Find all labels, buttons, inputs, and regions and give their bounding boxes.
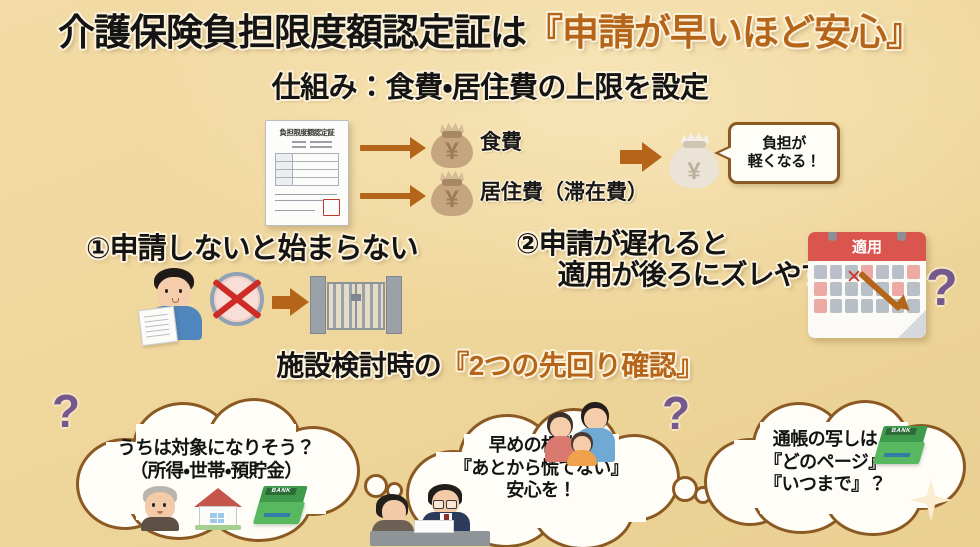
question-mark-icon-right: ?: [662, 390, 690, 436]
elderly-person-icon: [140, 486, 180, 530]
closed-gate-icon: [310, 276, 402, 334]
calendar-icon: 適用 ✕: [808, 232, 926, 338]
calendar-ring-icon: [897, 232, 906, 241]
certificate-heading: 負担限度額認定証: [266, 128, 348, 138]
cloud-1-line-2: （所得・世帯・預貯金）: [130, 460, 302, 481]
question-mark-icon: ?: [926, 262, 958, 314]
label-housing-cost: 居住費（滞在費）: [480, 181, 648, 205]
point-1-heading: ①申請しないと始まらない: [86, 233, 418, 265]
thought-cloud-3: 通帳の写しは 『どのページ』 『いつまで』？ BANK: [700, 398, 968, 532]
cloud-2-line-3: 安心を！: [506, 480, 576, 500]
yen-symbol: ¥: [430, 188, 474, 212]
point-1-number: ①: [86, 233, 110, 265]
cloud-1-line-1: うちは対象になりそう？: [118, 437, 315, 458]
cloud-3-line-1: 通帳の写しは: [773, 429, 877, 449]
section-heading: 施設検討時の『2つの先回り確認』: [276, 350, 704, 381]
family-icon: [545, 398, 631, 464]
cloud-3-line-3: 『いつまで』？: [764, 474, 886, 494]
bankbook-icon: BANK: [256, 486, 308, 526]
yen-symbol: ¥: [668, 160, 720, 184]
money-bag-white-icon: ¥: [668, 132, 720, 188]
bankbook-label: BANK: [265, 488, 297, 495]
point-2-line-1: 申請が遅れると: [539, 228, 728, 259]
cloud-1-text: うちは対象になりそう？ （所得・世帯・預貯金）: [66, 436, 366, 483]
calendar-label: 適用: [808, 232, 926, 261]
person-with-document-icon: [140, 268, 212, 340]
bubble-line-1: 負担が: [762, 135, 806, 153]
point-2-number: ②: [516, 228, 539, 259]
page-subtitle: 仕組み：食費・居住費の上限を設定: [272, 72, 709, 104]
money-bag-icon-housing: ¥: [430, 170, 474, 216]
benefit-speech-bubble: 負担が 軽くなる！: [728, 122, 840, 184]
yen-symbol: ¥: [430, 140, 474, 164]
title-accent: 『申請が早いほど安心』: [526, 12, 922, 53]
label-food-cost: 食費: [480, 131, 522, 155]
cloud-3-line-2: 『どのページ』: [764, 452, 885, 472]
section-heading-accent: 『2つの先回り確認』: [441, 350, 704, 381]
calendar-ring-icon: [828, 232, 837, 241]
consultation-icon: [370, 480, 490, 546]
certificate-table: [275, 153, 339, 186]
point-1-text: 申請しないと始まらない: [110, 233, 418, 265]
point-2-line-2: 適用が後ろにズレやすい: [530, 259, 855, 290]
bankbook-icon: BANK: [876, 426, 928, 466]
page-title: 介護保険負担限度額認定証は『申請が早いほど安心』: [58, 12, 922, 53]
clock-crossed-out-icon: [210, 272, 264, 326]
bubble-line-2: 軽くなる！: [748, 153, 821, 171]
point-2-heading: ②申請が遅れると 適用が後ろにズレやすい: [516, 228, 855, 291]
certificate-document: 負担限度額認定証: [265, 120, 349, 226]
thought-cloud-1: うちは対象になりそう？ （所得・世帯・預貯金） BANK: [66, 398, 366, 538]
infographic-canvas: 介護保険負担限度額認定証は『申請が早いほど安心』 仕組み：食費・居住費の上限を設…: [0, 0, 980, 547]
house-icon: [194, 488, 242, 530]
money-bag-icon-food: ¥: [430, 122, 474, 168]
certificate-seal-icon: [323, 199, 340, 216]
title-prefix: 介護保険負担限度額認定証は: [58, 12, 526, 53]
bankbook-label: BANK: [885, 428, 917, 435]
section-heading-prefix: 施設検討時の: [276, 350, 441, 381]
